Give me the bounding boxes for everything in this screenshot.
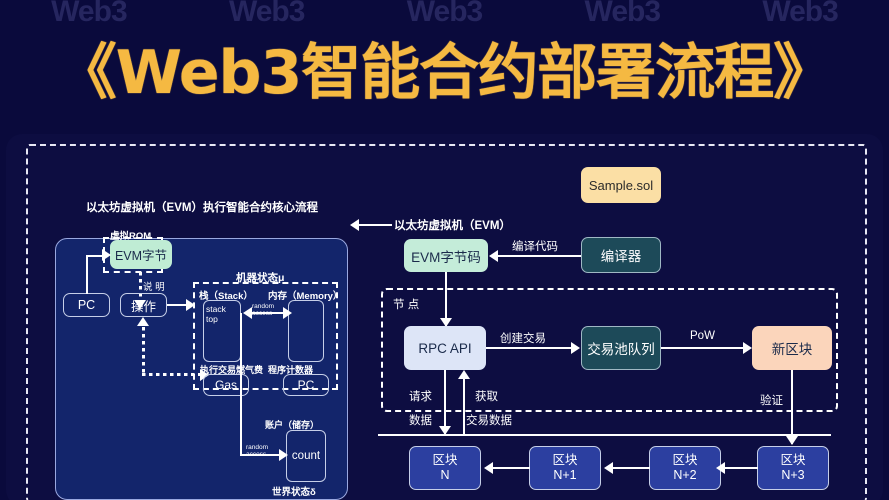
fetch-tx-arrow-icon <box>458 370 470 379</box>
chain-block-name: 区块 <box>432 453 457 468</box>
evm-arrow-icon <box>350 219 359 231</box>
pow-label: PoW <box>690 330 715 342</box>
tx-pool-box: 交易池队列 <box>581 326 661 370</box>
chain-block-name: 区块 <box>672 453 697 468</box>
chain-block: 区块 N+3 <box>757 446 829 490</box>
evm-arrow-line <box>356 224 392 226</box>
request-data-label-1: 请求 <box>409 388 432 404</box>
compile-arrow-icon <box>489 250 498 262</box>
fetch-tx-label-1: 获取 <box>475 388 498 404</box>
gas-to-operation-arrow-icon <box>137 317 149 326</box>
chain-block: 区块 N+2 <box>649 446 721 490</box>
create-tx-line <box>486 347 573 349</box>
watermark-text: Web3 <box>585 0 660 29</box>
chain-block-name: 区块 <box>780 453 805 468</box>
compiler-box: 编译器 <box>581 237 661 273</box>
request-data-line <box>444 370 446 434</box>
instruction-label: 说 明 <box>143 279 165 293</box>
stack-top-label: stack top <box>206 304 240 324</box>
operation-box: 操作 <box>120 293 167 317</box>
random-access-label-2: random access <box>246 444 276 458</box>
page-title: 《Web3智能合约部署流程》 <box>0 42 889 104</box>
watermark-row-top: Web3 Web3 Web3 Web3 Web3 <box>0 0 889 30</box>
fetch-tx-label-2: 交易数据 <box>466 412 512 428</box>
chain-link-arrow-icon <box>484 462 493 474</box>
account-arrow-icon <box>279 449 288 461</box>
node-label: 节 点 <box>393 296 419 312</box>
gas-to-operation-dotted <box>142 320 145 375</box>
evm-section-heading: 以太坊虚拟机（EVM）执行智能合约核心流程 <box>62 199 342 215</box>
verify-line <box>791 370 793 444</box>
random-access-arrow-left-icon <box>243 307 252 319</box>
chain-block-index: N <box>440 468 449 483</box>
memory-to-account-line <box>240 313 242 456</box>
create-tx-label: 创建交易 <box>500 330 546 346</box>
evm-byte-box: EVM字节 <box>110 240 172 269</box>
compile-line <box>497 255 581 257</box>
stack-box: stack top <box>203 300 241 362</box>
rpc-api-box: RPC API <box>404 326 486 370</box>
machine-state-label: 机器状态μ <box>236 270 284 285</box>
sample-sol-box: Sample.sol <box>581 167 661 203</box>
gas-box: Gas <box>203 374 249 396</box>
verify-arrow-icon <box>786 436 798 445</box>
chain-block: 区块 N <box>409 446 481 490</box>
create-tx-arrow-icon <box>571 342 580 354</box>
screenshot-root: Web3 Web3 Web3 Web3 Web3 Web3 Web3 Web3 … <box>0 0 889 500</box>
verify-label: 验证 <box>760 392 783 408</box>
account-count-box: count <box>286 430 326 482</box>
random-access-arrow-right-icon <box>283 307 292 319</box>
evm-bytecode-box: EVM字节码 <box>404 239 488 272</box>
compile-label: 编译代码 <box>512 238 558 254</box>
chain-link-line <box>724 467 758 469</box>
chain-link-arrow-icon <box>604 462 613 474</box>
request-data-label-2: 数据 <box>409 412 432 428</box>
new-block-box: 新区块 <box>752 326 832 370</box>
chain-link-line <box>612 467 650 469</box>
chain-block-index: N+2 <box>673 468 696 483</box>
chain-separator-line <box>378 434 831 436</box>
watermark-text: Web3 <box>407 0 482 29</box>
chain-link-arrow-icon <box>716 462 725 474</box>
random-access-label: random access <box>252 303 284 317</box>
pc-to-rom-arrow-icon <box>102 249 111 261</box>
fetch-tx-line <box>463 378 465 434</box>
watermark-text: Web3 <box>762 0 837 29</box>
world-state-label: 世界状态δ <box>272 484 316 498</box>
pow-arrow-icon <box>743 342 752 354</box>
chain-block-index: N+1 <box>553 468 576 483</box>
watermark-text: Web3 <box>51 0 126 29</box>
watermark-text: Web3 <box>229 0 304 29</box>
pc-right-box: PC <box>283 374 329 396</box>
chain-block-name: 区块 <box>552 453 577 468</box>
pc-left-box: PC <box>63 293 110 317</box>
chain-link-line <box>492 467 530 469</box>
pow-line <box>661 347 746 349</box>
chain-block: 区块 N+1 <box>529 446 601 490</box>
pc-to-rom-line <box>86 255 88 294</box>
chain-block-index: N+3 <box>781 468 804 483</box>
evm-arrow-label: 以太坊虚拟机（EVM） <box>394 217 511 233</box>
memory-box <box>288 300 324 362</box>
